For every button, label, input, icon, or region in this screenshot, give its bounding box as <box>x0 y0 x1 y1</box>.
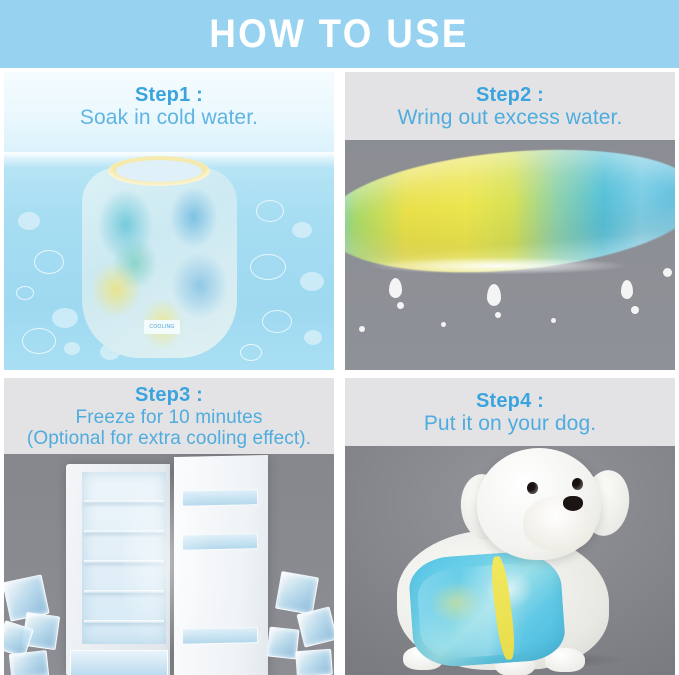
water-droplet <box>495 312 501 318</box>
page-title: HOW TO USE <box>210 14 469 54</box>
bubble <box>292 222 312 238</box>
step-4-caption: Step4 : Put it on your dog. <box>345 378 675 446</box>
step-2-line-1: Wring out excess water. <box>398 106 623 130</box>
door-bin <box>182 627 258 645</box>
step-panel-3: Step3 : Freeze for 10 minutes (Optional … <box>4 378 334 675</box>
bubble <box>22 328 56 354</box>
bubble <box>250 254 286 280</box>
dog-eye-left <box>527 482 538 494</box>
water-droplet <box>663 268 672 277</box>
how-to-use-infographic: HOW TO USE COOLING <box>0 0 679 675</box>
door-bin <box>182 489 258 507</box>
product-brand-tag: COOLING <box>144 320 180 334</box>
step-2-label: Step2 : <box>476 84 544 106</box>
bubble <box>304 330 322 345</box>
ice-cube <box>275 571 319 615</box>
door-bin <box>182 533 258 551</box>
step-1-label: Step1 : <box>135 84 203 106</box>
bubble <box>52 308 78 328</box>
bubble <box>256 200 284 222</box>
step-3-line-2: (Optional for extra cooling effect). <box>27 428 311 450</box>
fridge-shelf <box>84 500 164 503</box>
water-droplet <box>397 302 404 309</box>
freezer-drawer <box>70 650 168 675</box>
vest-fold-highlight <box>416 562 552 661</box>
step-4-line-1: Put it on your dog. <box>424 412 596 436</box>
refrigerator-interior <box>82 472 166 644</box>
bubble <box>64 342 80 355</box>
ice-cube <box>295 649 333 675</box>
step-panel-1: COOLING Step1 : Soak in cold water. <box>4 72 334 370</box>
fridge-shelf <box>84 560 164 563</box>
fridge-shelf <box>84 620 164 623</box>
dog-muzzle <box>523 496 595 552</box>
fridge-shelf <box>84 530 164 533</box>
step-panel-2: Step2 : Wring out excess water. <box>345 72 675 370</box>
ice-cube <box>9 650 50 675</box>
bubble <box>262 310 292 333</box>
step-1-line-1: Soak in cold water. <box>80 106 258 130</box>
step-panel-4: Step4 : Put it on your dog. <box>345 378 675 675</box>
step-3-line-1: Freeze for 10 minutes <box>76 407 263 429</box>
step-1-caption: Step1 : Soak in cold water. <box>4 72 334 140</box>
bubble <box>18 212 40 230</box>
water-droplet <box>631 306 639 314</box>
bubble <box>300 272 324 291</box>
water-droplet <box>621 280 633 299</box>
bubble <box>16 286 34 300</box>
step-4-label: Step4 : <box>476 390 544 412</box>
water-droplet <box>441 322 446 327</box>
step-2-caption: Step2 : Wring out excess water. <box>345 72 675 140</box>
water-splash <box>345 257 675 279</box>
water-droplet <box>487 284 501 306</box>
dog-eye-right <box>572 478 583 490</box>
step-3-label: Step3 : <box>135 384 203 406</box>
dog-nose <box>563 496 583 511</box>
bubble <box>240 344 262 361</box>
vest-collar-opening <box>116 160 202 182</box>
bubble <box>34 250 64 274</box>
step-3-caption: Step3 : Freeze for 10 minutes (Optional … <box>4 378 334 454</box>
water-droplet <box>551 318 556 323</box>
water-droplet <box>389 278 402 298</box>
fridge-shelf <box>84 590 164 593</box>
header-banner: HOW TO USE <box>0 0 679 68</box>
water-droplet <box>359 326 365 332</box>
steps-grid: COOLING Step1 : Soak in cold water. St <box>4 72 675 675</box>
